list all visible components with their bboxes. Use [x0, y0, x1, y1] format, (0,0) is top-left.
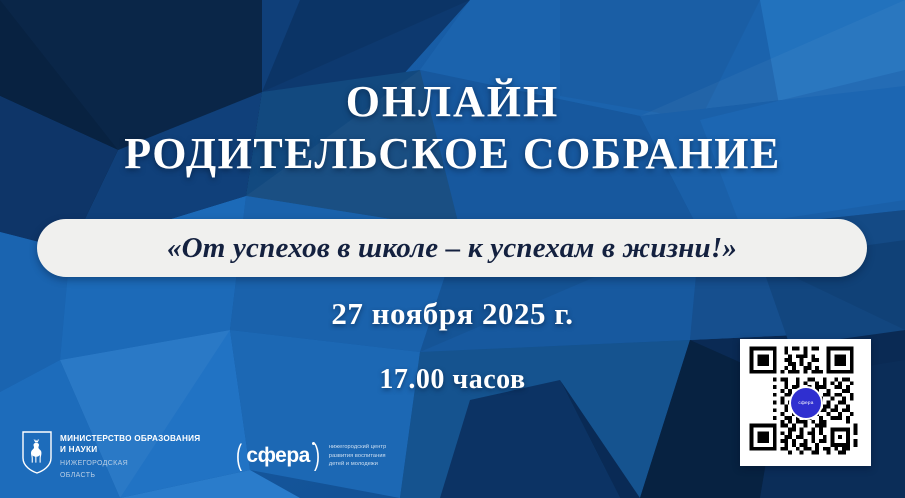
title-line-1: ОНЛАЙН	[0, 78, 905, 126]
event-date: 27 ноября 2025 г.	[0, 296, 905, 332]
ministry-logo-text: МИНИСТЕРСТВО ОБРАЗОВАНИЯ И НАУКИ НИЖЕГОР…	[60, 431, 200, 480]
sphera-right-paren: )	[314, 444, 320, 468]
qr-center-logo-label: сфера	[798, 400, 813, 406]
poster-canvas: ОНЛАЙН РОДИТЕЛЬСКОЕ СОБРАНИЕ «От успехов…	[0, 0, 905, 498]
qr-center-logo: сфера	[791, 388, 821, 418]
sphera-sub-line-1: нижегородский центр	[329, 443, 386, 451]
ministry-region-line-1: НИЖЕГОРОДСКАЯ	[60, 459, 200, 468]
qr-code[interactable]: сфера	[740, 339, 871, 466]
subtitle-banner: «От успехов в школе – к успехам в жизни!…	[37, 219, 867, 277]
sphera-subtitle: нижегородский центр развития воспитания …	[329, 443, 386, 467]
sphera-left-paren: (	[236, 444, 242, 468]
sphera-sub-line-3: детей и молодежи	[329, 460, 386, 468]
sphera-sub-line-2: развития воспитания	[329, 452, 386, 460]
ministry-logo: МИНИСТЕРСТВО ОБРАЗОВАНИЯ И НАУКИ НИЖЕГОР…	[22, 431, 200, 480]
deer-shield-coat-of-arms-icon	[22, 431, 52, 474]
sphera-logo: ( сфера ) нижегородский центр развития в…	[234, 443, 386, 467]
sphera-accent-dot	[312, 442, 315, 445]
ministry-region-line-2: ОБЛАСТЬ	[60, 471, 200, 480]
poster-title-block: ОНЛАЙН РОДИТЕЛЬСКОЕ СОБРАНИЕ	[0, 78, 905, 182]
ministry-line-1: МИНИСТЕРСТВО ОБРАЗОВАНИЯ	[60, 434, 200, 445]
title-line-2: РОДИТЕЛЬСКОЕ СОБРАНИЕ	[0, 126, 905, 182]
subtitle-text: «От успехов в школе – к успехам в жизни!…	[167, 232, 737, 265]
ministry-line-2: И НАУКИ	[60, 445, 200, 456]
footer-logos: МИНИСТЕРСТВО ОБРАЗОВАНИЯ И НАУКИ НИЖЕГОР…	[22, 431, 386, 480]
sphera-wordmark-text: сфера	[244, 445, 311, 466]
sphera-wordmark: ( сфера )	[234, 444, 321, 468]
